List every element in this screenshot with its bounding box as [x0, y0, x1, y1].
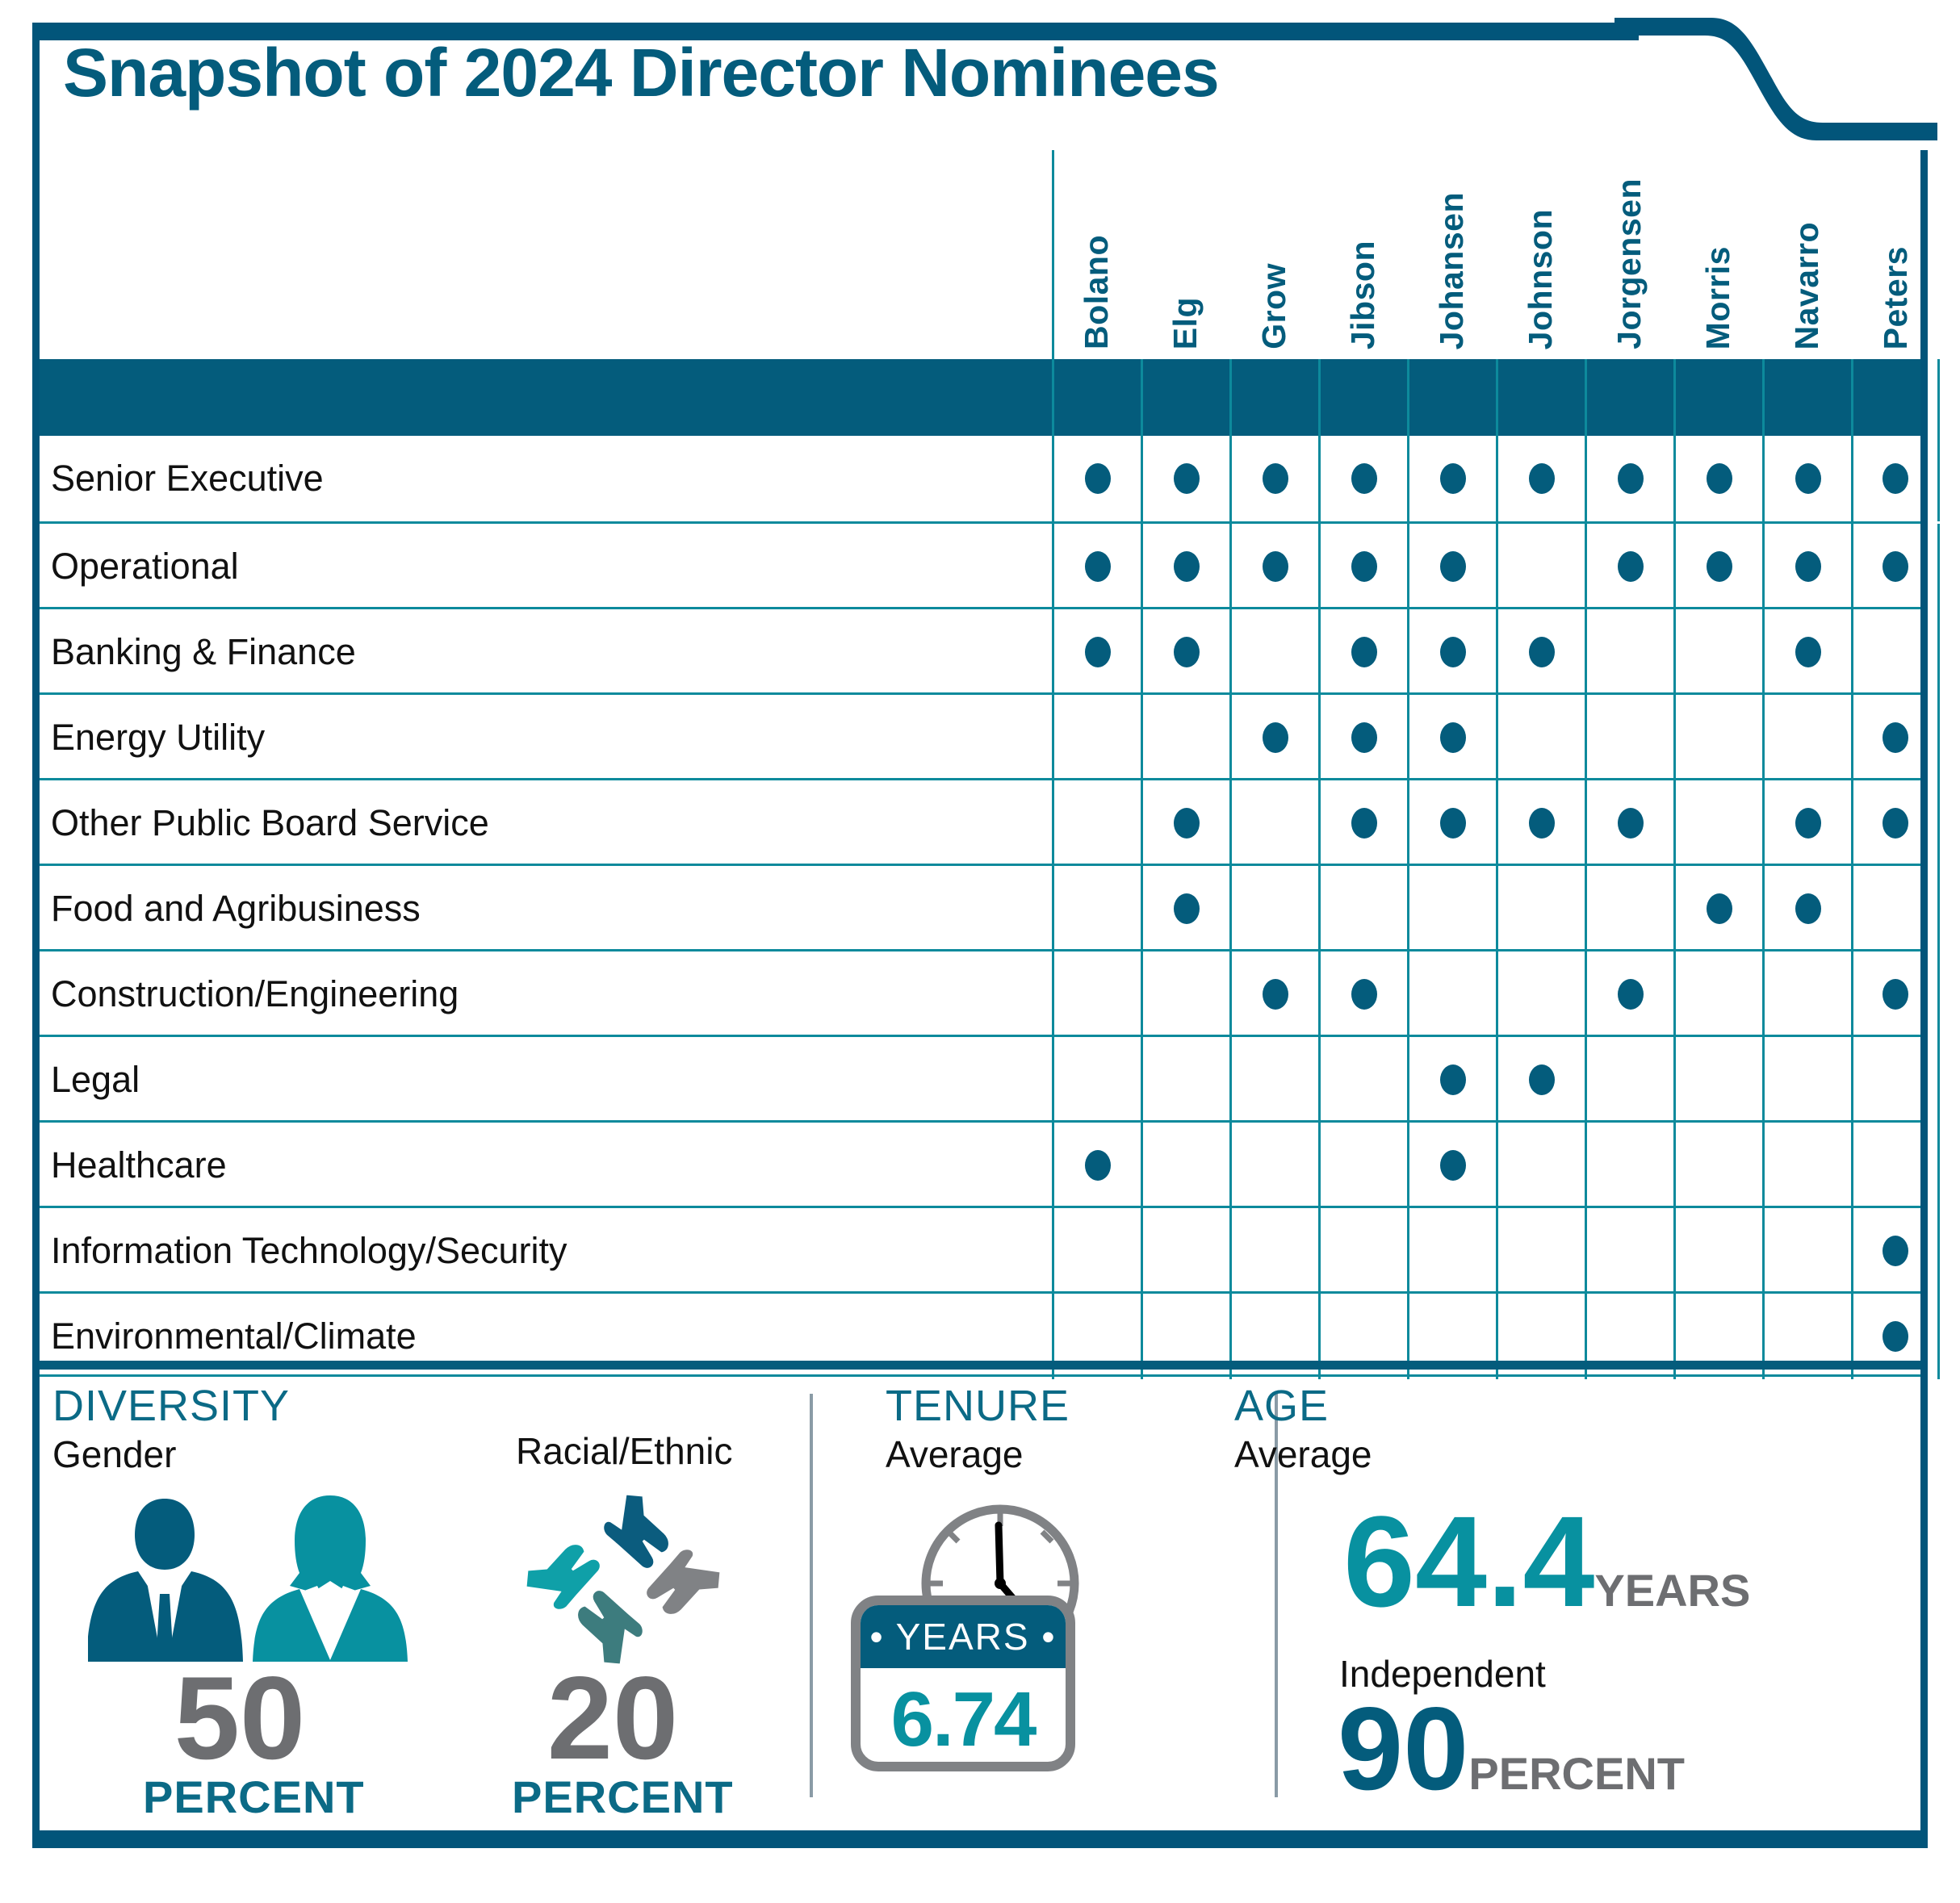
matrix-cell [1141, 695, 1229, 780]
qualification-dot-icon [1263, 551, 1288, 582]
notched-corner-decoration [1614, 18, 1937, 163]
matrix-cell [1229, 695, 1318, 780]
table-row: Legal [40, 1035, 1920, 1120]
matrix-cell [1052, 436, 1141, 521]
matrix-cell [1762, 695, 1851, 780]
matrix-cell [1673, 780, 1762, 866]
tenure-years-badge: • YEARS • 6.74 [851, 1596, 1075, 1771]
independent-unit: PERCENT [1468, 1747, 1685, 1800]
qualification-dot-icon [1795, 637, 1821, 667]
matrix-cell [1585, 1123, 1673, 1208]
qualification-dot-icon [1085, 463, 1111, 494]
border-bottom [32, 1830, 1928, 1848]
matrix-cell [1585, 1037, 1673, 1123]
matrix-cell [1141, 780, 1229, 866]
matrix-cell [1141, 1123, 1229, 1208]
qualification-dot-icon [1883, 1236, 1908, 1266]
qualification-dot-icon [1440, 463, 1466, 494]
qualification-dot-icon [1351, 808, 1377, 839]
qualification-dot-icon [1263, 722, 1288, 753]
matrix-cell [1407, 951, 1496, 1037]
matrix-cell [1762, 1123, 1851, 1208]
matrix-cell [1585, 1208, 1673, 1294]
matrix-column-headers: BolanoElgGrowJibsonJohansenJohnsonJorgen… [40, 150, 1920, 360]
border-left [32, 23, 40, 1848]
stats-panel: DIVERSITY Gender Racial/Ethnic 50 PERCEN… [40, 1370, 1920, 1830]
page-title: Snapshot of 2024 Director Nominees [63, 34, 1219, 112]
qualification-dot-icon [1883, 722, 1908, 753]
header-band-cell [1673, 359, 1762, 436]
matrix-cell [1762, 951, 1851, 1037]
qualification-dot-icon [1795, 551, 1821, 582]
stats-divider-1 [810, 1394, 813, 1797]
table-row: Operational [40, 521, 1920, 607]
row-label: Operational [40, 524, 239, 609]
matrix-cell [1673, 866, 1762, 951]
qualification-dot-icon [1351, 551, 1377, 582]
matrix-cell [1496, 1208, 1585, 1294]
female-silhouette-icon [253, 1495, 408, 1662]
gender-percent-unit: PERCENT [143, 1771, 337, 1823]
matrix-rows: Senior ExecutiveOperationalBanking & Fin… [40, 436, 1920, 1377]
row-label: Information Technology/Security [40, 1208, 567, 1294]
diversity-title: DIVERSITY [52, 1381, 290, 1431]
matrix-cell [1762, 866, 1851, 951]
independent-value: 90 [1338, 1696, 1468, 1801]
matrix-cell [1851, 524, 1940, 609]
qualification-dot-icon [1883, 551, 1908, 582]
matrix-cell [1318, 1037, 1407, 1123]
age-title: AGE [1234, 1381, 1372, 1431]
matrix-cell [1496, 866, 1585, 951]
matrix-cell [1673, 1123, 1762, 1208]
row-label: Healthcare [40, 1123, 227, 1208]
qualification-dot-icon [1174, 463, 1200, 494]
age-unit: YEARS [1594, 1564, 1750, 1617]
column-header-bolano: Bolano [1052, 235, 1141, 353]
qualification-dot-icon [1263, 979, 1288, 1010]
qualification-dot-icon [1795, 463, 1821, 494]
male-silhouette-icon [88, 1499, 243, 1664]
table-row: Banking & Finance [40, 607, 1920, 692]
tenure-badge-label: • YEARS • [861, 1605, 1066, 1668]
qualification-dot-icon [1883, 1321, 1908, 1352]
matrix-cell [1318, 951, 1407, 1037]
qualification-dot-icon [1707, 893, 1732, 924]
matrix-cell [1407, 436, 1496, 521]
qualification-dot-icon [1618, 979, 1644, 1010]
racial-ethnic-label: Racial/Ethnic [516, 1429, 732, 1473]
qualification-dot-icon [1883, 979, 1908, 1010]
independent-group: 90 PERCENT [1338, 1696, 1685, 1801]
matrix-cell [1496, 524, 1585, 609]
qualification-dot-icon [1795, 808, 1821, 839]
matrix-cell [1407, 1123, 1496, 1208]
table-row: Other Public Board Service [40, 778, 1920, 864]
matrix-cell [1851, 1208, 1940, 1294]
matrix-cell [1762, 1037, 1851, 1123]
matrix-cell [1229, 1208, 1318, 1294]
matrix-cell [1585, 866, 1673, 951]
matrix-cell [1496, 780, 1585, 866]
column-header-navarro: Navarro [1762, 222, 1851, 353]
matrix-cell [1407, 1037, 1496, 1123]
column-header-morris: Morris [1673, 246, 1762, 353]
matrix-cell [1496, 1037, 1585, 1123]
matrix-cell [1496, 951, 1585, 1037]
gender-silhouettes [88, 1491, 427, 1668]
matrix-cell [1851, 695, 1940, 780]
qualification-dot-icon [1883, 808, 1908, 839]
matrix-cell [1229, 866, 1318, 951]
matrix-cell [1052, 780, 1141, 866]
column-header-label: Elg [1166, 297, 1204, 349]
matrix-cell [1585, 524, 1673, 609]
age-label: Average [1234, 1432, 1372, 1476]
racial-ethnic-percent-group: 20 PERCENT [512, 1665, 714, 1823]
header-band-cell [1318, 359, 1407, 436]
matrix-cell [1052, 609, 1141, 695]
matrix-cell [1407, 609, 1496, 695]
matrix-cell [1407, 866, 1496, 951]
matrix-cell [1762, 436, 1851, 521]
table-row: Healthcare [40, 1120, 1920, 1206]
tenure-heading-group: TENURE Average [886, 1381, 1070, 1476]
column-header-label: Peters [1877, 246, 1915, 349]
matrix-cell [1673, 695, 1762, 780]
table-row: Information Technology/Security [40, 1206, 1920, 1291]
qualification-dot-icon [1351, 637, 1377, 667]
column-header-label: Navarro [1788, 222, 1826, 349]
qualification-dot-icon [1440, 637, 1466, 667]
qualification-dot-icon [1174, 637, 1200, 667]
qualification-dot-icon [1351, 463, 1377, 494]
header-band-cell [1851, 359, 1940, 436]
qualification-dot-icon [1529, 463, 1555, 494]
matrix-cell [1585, 609, 1673, 695]
matrix-cell [1851, 866, 1940, 951]
matrix-cell [1585, 951, 1673, 1037]
header-band-cell [1585, 359, 1673, 436]
nominee-skills-matrix: BolanoElgGrowJibsonJohansenJohnsonJorgen… [40, 150, 1920, 1361]
matrix-cell [1851, 780, 1940, 866]
matrix-cell [1141, 866, 1229, 951]
tenure-title: TENURE [886, 1381, 1070, 1431]
header-band-cell [1496, 359, 1585, 436]
row-label: Senior Executive [40, 436, 324, 521]
matrix-cell [1851, 436, 1940, 521]
qualification-dot-icon [1351, 722, 1377, 753]
matrix-cell [1052, 695, 1141, 780]
row-label: Banking & Finance [40, 609, 356, 695]
qualification-dot-icon [1085, 1150, 1111, 1181]
matrix-cell [1229, 609, 1318, 695]
racial-ethnic-percent-value: 20 [512, 1665, 714, 1771]
matrix-cell [1585, 780, 1673, 866]
matrix-cell [1318, 436, 1407, 521]
matrix-cell [1052, 951, 1141, 1037]
matrix-cell [1585, 695, 1673, 780]
matrix-cell [1673, 524, 1762, 609]
qualification-dot-icon [1707, 463, 1732, 494]
matrix-cell [1851, 1037, 1940, 1123]
age-average-group: 64.4 YEARS [1343, 1504, 1750, 1620]
age-heading-group: AGE Average [1234, 1381, 1372, 1476]
column-header-label: Johansen [1433, 192, 1471, 349]
matrix-cell [1318, 866, 1407, 951]
header-band-cell [1407, 359, 1496, 436]
row-label: Other Public Board Service [40, 780, 489, 866]
column-header-johansen: Johansen [1407, 192, 1496, 353]
matrix-cell [1052, 1037, 1141, 1123]
matrix-cell [1407, 524, 1496, 609]
matrix-header-band [40, 359, 1920, 436]
matrix-cell [1407, 695, 1496, 780]
column-header-jibson: Jibson [1318, 240, 1407, 353]
qualification-dot-icon [1085, 637, 1111, 667]
matrix-cell [1496, 436, 1585, 521]
header-band-cell [1762, 359, 1851, 436]
gender-percent-value: 50 [143, 1665, 337, 1771]
header-band-cell [1229, 359, 1318, 436]
qualification-dot-icon [1440, 808, 1466, 839]
matrix-cell [1851, 609, 1940, 695]
qualification-dot-icon [1529, 1064, 1555, 1095]
row-label: Construction/Engineering [40, 951, 459, 1037]
column-header-elg: Elg [1141, 297, 1229, 353]
matrix-cell [1229, 1037, 1318, 1123]
matrix-cell [1052, 1208, 1141, 1294]
matrix-cell [1318, 1123, 1407, 1208]
gender-label: Gender [52, 1432, 290, 1476]
matrix-cell [1673, 609, 1762, 695]
column-header-peters: Peters [1851, 246, 1940, 353]
qualification-dot-icon [1618, 808, 1644, 839]
column-header-label: Bolano [1078, 235, 1116, 349]
qualification-dot-icon [1618, 463, 1644, 494]
row-label: Energy Utility [40, 695, 265, 780]
column-header-label: Jibson [1344, 240, 1382, 349]
matrix-cell [1229, 780, 1318, 866]
qualification-dot-icon [1085, 551, 1111, 582]
qualification-dot-icon [1618, 551, 1644, 582]
age-value: 64.4 [1343, 1504, 1594, 1620]
matrix-cell [1673, 1208, 1762, 1294]
matrix-cell [1141, 951, 1229, 1037]
matrix-cell [1141, 1208, 1229, 1294]
matrix-cell [1762, 609, 1851, 695]
matrix-cell [1141, 1037, 1229, 1123]
racial-ethnic-label-group: Racial/Ethnic [516, 1428, 732, 1473]
row-label: Legal [40, 1037, 140, 1123]
qualification-dot-icon [1529, 808, 1555, 839]
qualification-dot-icon [1440, 551, 1466, 582]
qualification-dot-icon [1440, 722, 1466, 753]
header-band-cell [1052, 359, 1141, 436]
column-header-label: Grow [1255, 263, 1293, 349]
matrix-cell [1585, 436, 1673, 521]
qualification-dot-icon [1707, 551, 1732, 582]
matrix-cell [1141, 609, 1229, 695]
column-header-label: Morris [1699, 246, 1737, 349]
stats-separator-rule [40, 1361, 1920, 1370]
table-row: Food and Agribusiness [40, 864, 1920, 949]
diversity-heading-group: DIVERSITY Gender [52, 1381, 290, 1476]
matrix-cell [1407, 1208, 1496, 1294]
qualification-dot-icon [1351, 979, 1377, 1010]
matrix-cell [1318, 1208, 1407, 1294]
matrix-cell [1762, 524, 1851, 609]
qualification-dot-icon [1263, 463, 1288, 494]
column-header-johnson: Johnson [1496, 209, 1585, 353]
qualification-dot-icon [1795, 893, 1821, 924]
qualification-dot-icon [1174, 808, 1200, 839]
matrix-cell [1762, 780, 1851, 866]
qualification-dot-icon [1174, 551, 1200, 582]
matrix-cell [1052, 524, 1141, 609]
tenure-value: 6.74 [861, 1668, 1066, 1771]
matrix-cell [1673, 1037, 1762, 1123]
qualification-dot-icon [1174, 893, 1200, 924]
gender-percent-group: 50 PERCENT [143, 1665, 337, 1823]
matrix-cell [1407, 780, 1496, 866]
matrix-cell [1229, 951, 1318, 1037]
qualification-dot-icon [1440, 1064, 1466, 1095]
header-band-cell [1141, 359, 1229, 436]
matrix-cell [1762, 1208, 1851, 1294]
four-hands-icon [522, 1491, 724, 1668]
infographic-card: Snapshot of 2024 Director Nominees Bolan… [0, 0, 1960, 1903]
matrix-cell [1496, 609, 1585, 695]
table-row: Construction/Engineering [40, 949, 1920, 1035]
matrix-cell [1673, 951, 1762, 1037]
qualification-dot-icon [1883, 463, 1908, 494]
qualification-dot-icon [1529, 637, 1555, 667]
matrix-cell [1496, 695, 1585, 780]
matrix-cell [1496, 1123, 1585, 1208]
table-row: Senior Executive [40, 436, 1920, 521]
matrix-cell [1851, 951, 1940, 1037]
matrix-cell [1318, 695, 1407, 780]
matrix-cell [1229, 436, 1318, 521]
column-header-label: Jorgensen [1610, 178, 1648, 349]
column-header-grow: Grow [1229, 263, 1318, 353]
table-row: Energy Utility [40, 692, 1920, 778]
matrix-cell [1052, 866, 1141, 951]
column-header-label: Johnson [1522, 209, 1560, 349]
matrix-cell [1052, 1123, 1141, 1208]
qualification-dot-icon [1440, 1150, 1466, 1181]
matrix-cell [1229, 524, 1318, 609]
tenure-label: Average [886, 1432, 1070, 1476]
racial-ethnic-percent-unit: PERCENT [512, 1771, 714, 1823]
matrix-cell [1318, 780, 1407, 866]
matrix-cell [1141, 524, 1229, 609]
matrix-cell [1851, 1123, 1940, 1208]
matrix-cell [1318, 609, 1407, 695]
matrix-cell [1673, 436, 1762, 521]
matrix-cell [1229, 1123, 1318, 1208]
column-header-jorgensen: Jorgensen [1585, 178, 1673, 353]
matrix-cell [1141, 436, 1229, 521]
matrix-cell [1318, 524, 1407, 609]
row-label: Food and Agribusiness [40, 866, 421, 951]
